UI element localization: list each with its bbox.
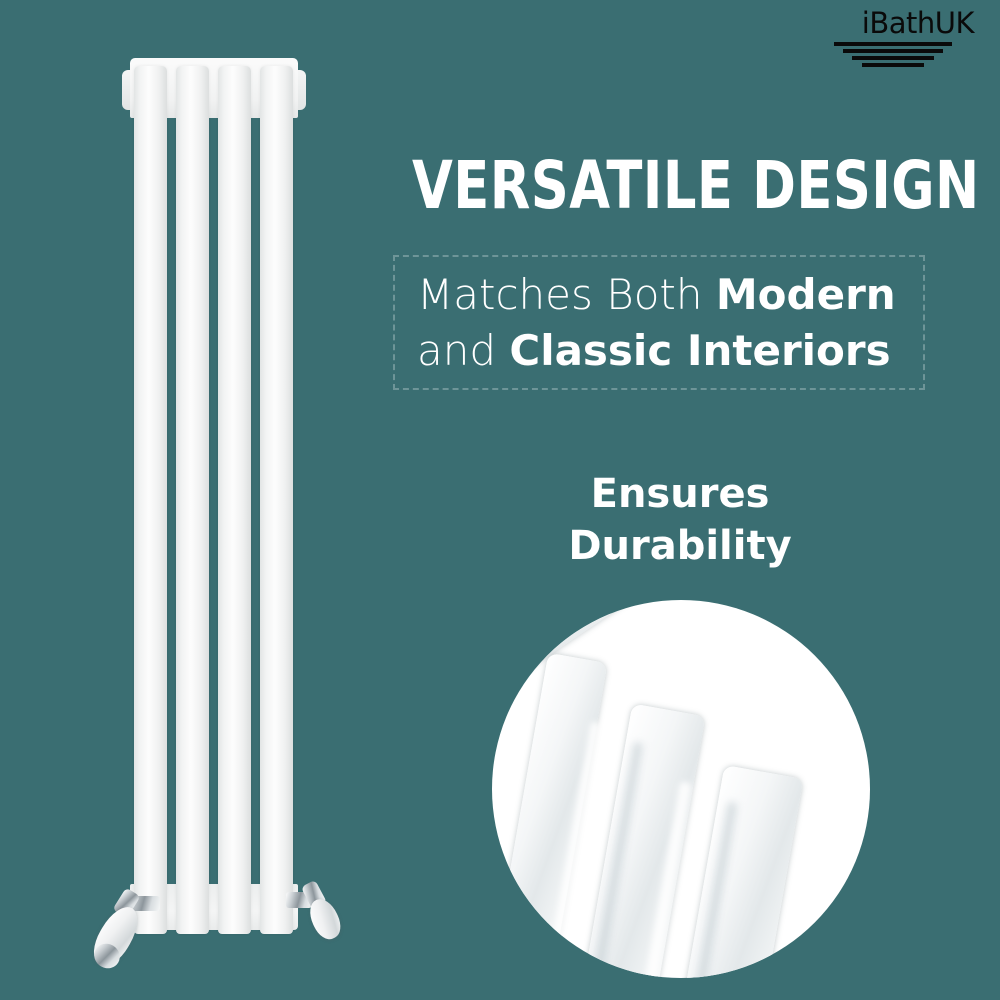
promo-banner: iBathUK VERSATILE DESIGN Matches Both Mo… bbox=[0, 0, 1000, 1000]
product-radiator bbox=[96, 58, 336, 978]
subtitle-line-2-bold: Classic Interiors bbox=[509, 326, 890, 375]
radiator-valve-right bbox=[284, 874, 352, 944]
subtitle-line-2: and Classic Interiors bbox=[417, 323, 901, 379]
radiator-fin-1 bbox=[492, 653, 608, 978]
logo-rule-4 bbox=[862, 63, 924, 67]
feature-line-1: Ensures bbox=[500, 468, 860, 520]
feature-line-2: Durability bbox=[500, 520, 860, 572]
logo-rule-1 bbox=[834, 42, 952, 46]
logo-rule-2 bbox=[843, 49, 943, 53]
radiator-panel-3 bbox=[218, 66, 251, 934]
subtitle-line-1-normal: Matches Both bbox=[417, 270, 716, 319]
feature-label: Ensures Durability bbox=[500, 468, 860, 572]
subtitle-line-1-bold: Modern bbox=[716, 270, 896, 319]
subtitle-callout-box: Matches Both Modern and Classic Interior… bbox=[393, 255, 925, 390]
radiator-fin-closeup-image bbox=[492, 600, 870, 978]
subtitle-line-1: Matches Both Modern bbox=[417, 267, 901, 323]
radiator-panel-1 bbox=[134, 66, 167, 934]
logo-rule-3 bbox=[852, 56, 934, 60]
radiator-panel-2 bbox=[176, 66, 209, 934]
brand-logo: iBathUK bbox=[808, 8, 978, 67]
brand-wordmark: iBathUK bbox=[808, 8, 978, 38]
radiator-panel-4 bbox=[260, 66, 293, 934]
headline-title: VERSATILE DESIGN bbox=[412, 152, 828, 220]
radiator-valve-left bbox=[92, 878, 172, 974]
subtitle-line-2-normal: and bbox=[417, 326, 509, 375]
